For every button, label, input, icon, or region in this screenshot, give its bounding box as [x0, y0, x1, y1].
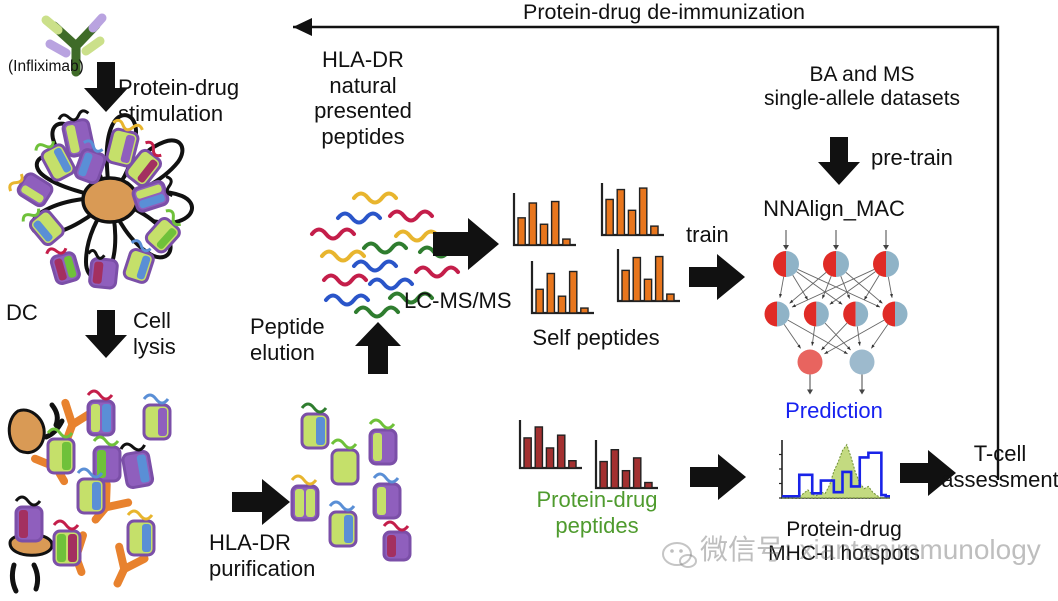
input-node [773, 251, 799, 277]
feedback-arrowhead [293, 18, 312, 36]
network-edges [779, 269, 893, 353]
hidden-node [804, 302, 829, 327]
hidden-node [843, 302, 868, 327]
hotspot-arrow-right [690, 452, 748, 502]
pretrain-arrow-down [813, 137, 865, 187]
protein-drug-chart-1 [520, 420, 582, 468]
watermark: 微信号: xiantanimmunology [700, 534, 1041, 566]
cell-lysis-arrow-down [80, 310, 132, 360]
dc-label: DC [6, 300, 38, 326]
self-peptide-charts [512, 183, 687, 328]
hidden-node [883, 302, 908, 327]
lcmsms-label: LC-MS/MS [404, 288, 512, 314]
prediction-label: Prediction [785, 398, 883, 424]
self-peptides-label: Self peptides [532, 325, 659, 351]
figure-title: Protein-drug de-immunization [523, 0, 805, 25]
nnalign-network-diagram [766, 222, 906, 392]
protein-drug-peptides-label: Protein-drug peptides [536, 487, 657, 538]
peptide-elution-arrow-up [350, 320, 406, 376]
self-peptide-chart-2 [602, 183, 664, 235]
input-node [823, 251, 849, 277]
input-node [873, 251, 899, 277]
model-name-label: NNAlign_MAC [763, 196, 905, 222]
train-label: train [686, 222, 729, 248]
lcmsms-arrow-right [433, 215, 501, 273]
lysed-cell-contents [0, 395, 230, 601]
self-peptide-chart-3 [532, 261, 594, 313]
self-peptide-chart-4 [618, 249, 680, 301]
dendritic-cell-diagram [2, 108, 224, 293]
self-peptide-chart-1 [514, 193, 576, 245]
peptide-elution-label: Peptide elution [250, 314, 325, 365]
hla-purification-arrow-right [232, 477, 292, 527]
cell-lysis-label: Cell lysis [133, 308, 176, 359]
datasets-label: BA and MS single-allele datasets [764, 63, 960, 112]
hidden-node [765, 302, 790, 327]
purified-hla-dr-pool [288, 400, 418, 560]
output-node [798, 350, 823, 375]
pretrain-label: pre-train [871, 145, 953, 171]
drug-name-label: (Infliximab) [8, 58, 84, 76]
protein-drug-chart-2 [596, 440, 658, 488]
train-arrow-right [689, 252, 747, 302]
output-node [850, 350, 875, 375]
mhc-ii-hotspot-plot [768, 434, 898, 514]
tcell-assessment-label: T-cell assessment [941, 441, 1058, 492]
hla-presented-peptides-label: HLA-DR natural presented peptides [314, 47, 412, 149]
watermark-logo-icon [662, 540, 698, 572]
